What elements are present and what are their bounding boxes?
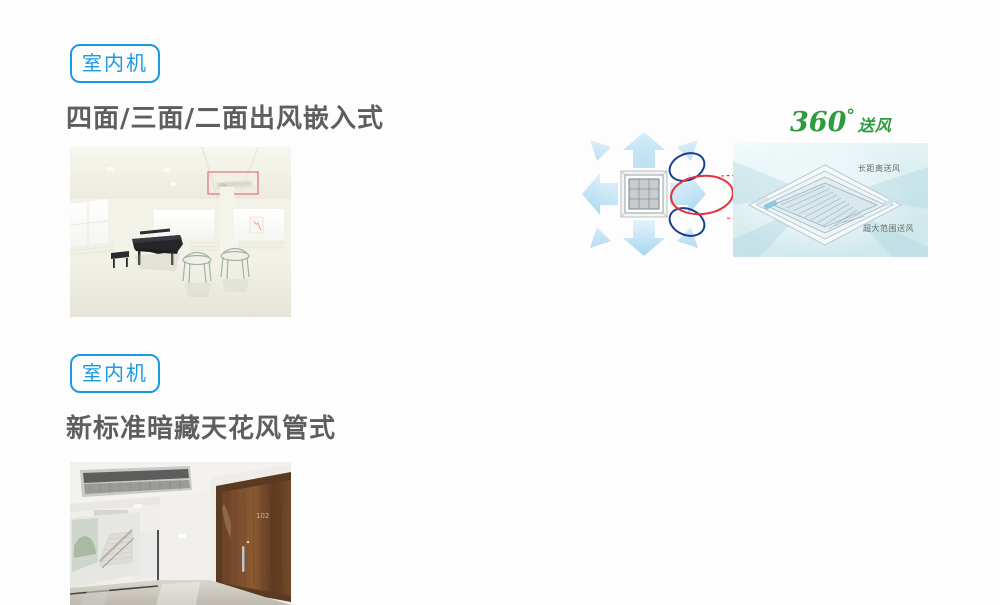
section-badge-2: 室内机: [70, 354, 160, 393]
photo-room-with-piano-image: [70, 147, 291, 317]
svg-text:102: 102: [256, 512, 269, 520]
diagram-title: 360°送风: [790, 108, 892, 136]
diagram-title-number: 360: [790, 107, 846, 138]
label-long-distance-airflow: 长距离送风: [858, 163, 901, 174]
diagram-title-degree: °: [846, 106, 855, 126]
section-heading-2: 新标准暗藏天花风管式: [66, 415, 520, 445]
airflow-diagram: 360°送风 长距离送风 超大范围送风: [575, 100, 955, 275]
airflow-diagram-graphics: [575, 100, 955, 275]
product-feature-page: 室内机 四面/三面/二面出风嵌入式: [0, 0, 1000, 605]
diagram-title-suffix: 送风: [858, 116, 892, 135]
section-indoor-unit-cassette: 室内机 四面/三面/二面出风嵌入式: [0, 44, 520, 135]
ceiling-cassette-panel-photo: [733, 143, 928, 257]
ceiling-cassette-unit: [621, 171, 667, 217]
photo-room-with-piano: [70, 147, 291, 317]
section-heading-1: 四面/三面/二面出风嵌入式: [66, 105, 520, 135]
photo-corridor-with-duct-image: 102: [70, 462, 291, 605]
label-wide-range-airflow: 超大范围送风: [863, 223, 914, 234]
section-indoor-unit-ducted: 室内机 新标准暗藏天花风管式: [0, 354, 520, 445]
photo-corridor-with-duct: 102: [70, 462, 291, 605]
section-badge-1: 室内机: [70, 44, 160, 83]
